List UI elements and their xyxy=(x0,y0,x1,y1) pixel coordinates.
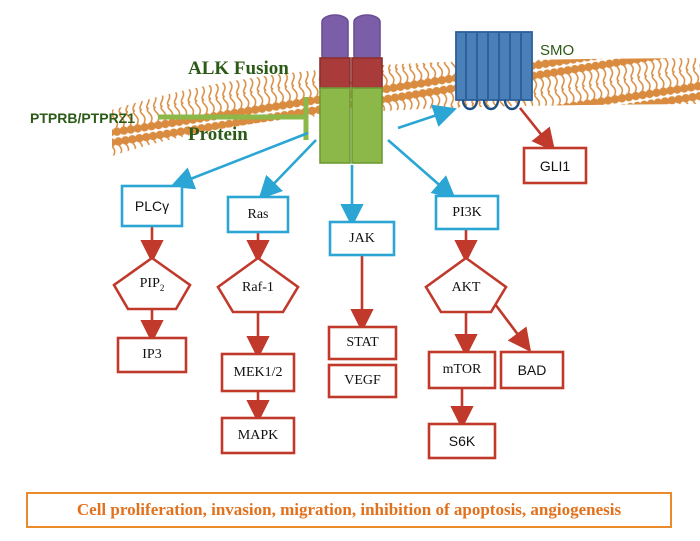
node-vegf-shape xyxy=(329,365,396,397)
alk-kinase-domain-left xyxy=(320,88,350,163)
plasma-membrane xyxy=(96,1,700,217)
alk-kinase-domain-right xyxy=(352,88,382,163)
node-ip3-shape xyxy=(118,338,186,372)
alk-transmembrane-right xyxy=(352,58,382,88)
arrow-smo-to-gli1 xyxy=(520,108,552,148)
node-mapk-shape xyxy=(222,418,294,453)
node-akt-shape xyxy=(426,258,506,312)
node-bad-shape xyxy=(501,352,563,388)
node-ras-shape xyxy=(228,197,288,232)
node-jak-shape xyxy=(330,222,394,255)
diagram-canvas xyxy=(0,0,700,541)
pathway-diagram: ALK Fusion Protein PTPRB/PTPRZ1 SMO PLCγ… xyxy=(0,0,700,541)
node-s6k-shape xyxy=(429,424,495,458)
node-pip2-shape xyxy=(114,258,190,309)
arrow-akt-to-bad xyxy=(492,300,528,348)
alk-transmembrane-left xyxy=(320,58,350,88)
node-stat-shape xyxy=(329,327,396,359)
node-mek-shape xyxy=(222,354,294,391)
smo-label: SMO xyxy=(540,42,574,59)
node-pi3k-shape xyxy=(436,196,498,229)
outcome-banner: Cell proliferation, invasion, migration,… xyxy=(26,492,672,528)
arrow-alk-to-pi3k xyxy=(388,140,452,196)
ptprb-ptprz1-label: PTPRB/PTPRZ1 xyxy=(30,110,135,126)
node-raf1-shape xyxy=(218,258,298,312)
outcome-banner-text: Cell proliferation, invasion, migration,… xyxy=(77,500,621,520)
node-mtor-shape xyxy=(429,352,495,388)
node-plcg-shape xyxy=(122,186,182,226)
smo-receptor xyxy=(456,32,532,109)
page-title: ALK Fusion Protein xyxy=(188,14,289,190)
node-gli1-shape xyxy=(524,148,586,183)
arrow-alk-to-smo xyxy=(398,110,452,128)
